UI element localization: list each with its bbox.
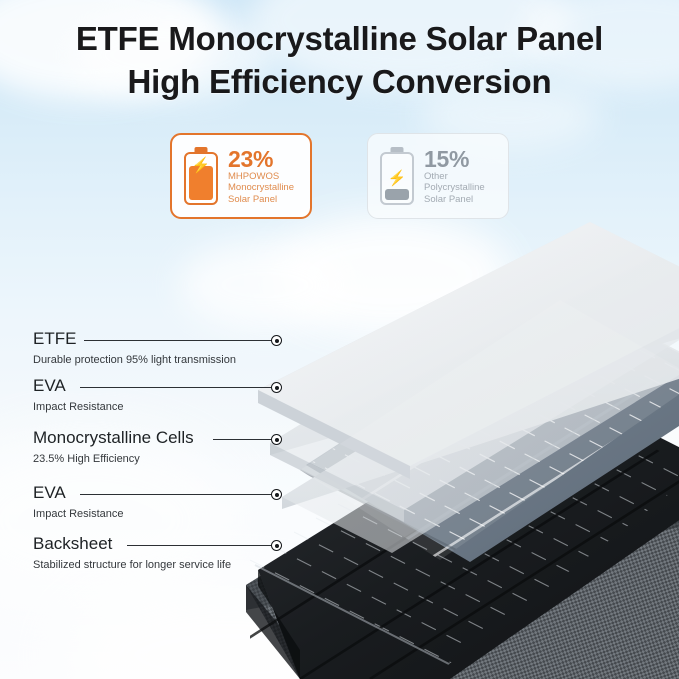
leader-dot-mono-cells [271,434,282,445]
callout-etfe: ETFE Durable protection 95% light transm… [33,330,236,366]
leader-line-mono-cells [213,439,274,440]
layer-description: Impact Resistance [33,402,123,413]
leader-dot-eva-top [271,382,282,393]
leader-dot-etfe [271,335,282,346]
layer-title: Backsheet [33,535,231,552]
product-infographic: ETFE Monocrystalline Solar Panel High Ef… [0,0,679,679]
leader-line-eva-bottom [80,494,274,495]
leader-line-eva-top [80,387,274,388]
leader-dot-backsheet [271,540,282,551]
leader-line-etfe [84,340,274,341]
layer-description: Durable protection 95% light transmissio… [33,355,236,366]
layer-title: EVA [33,377,123,394]
layer-title: EVA [33,484,123,501]
layer-title: ETFE [33,330,236,347]
layer-description: Stabilized structure for longer service … [33,560,231,571]
leader-line-backsheet [127,545,274,546]
layer-callouts: ETFE Durable protection 95% light transm… [0,0,679,679]
callout-eva-top: EVA Impact Resistance [33,377,123,413]
callout-mono-cells: Monocrystalline Cells 23.5% High Efficie… [33,429,194,465]
layer-title: Monocrystalline Cells [33,429,194,446]
layer-description: Impact Resistance [33,509,123,520]
layer-description: 23.5% High Efficiency [33,454,194,465]
callout-eva-bottom: EVA Impact Resistance [33,484,123,520]
callout-backsheet: Backsheet Stabilized structure for longe… [33,535,231,571]
leader-dot-eva-bottom [271,489,282,500]
